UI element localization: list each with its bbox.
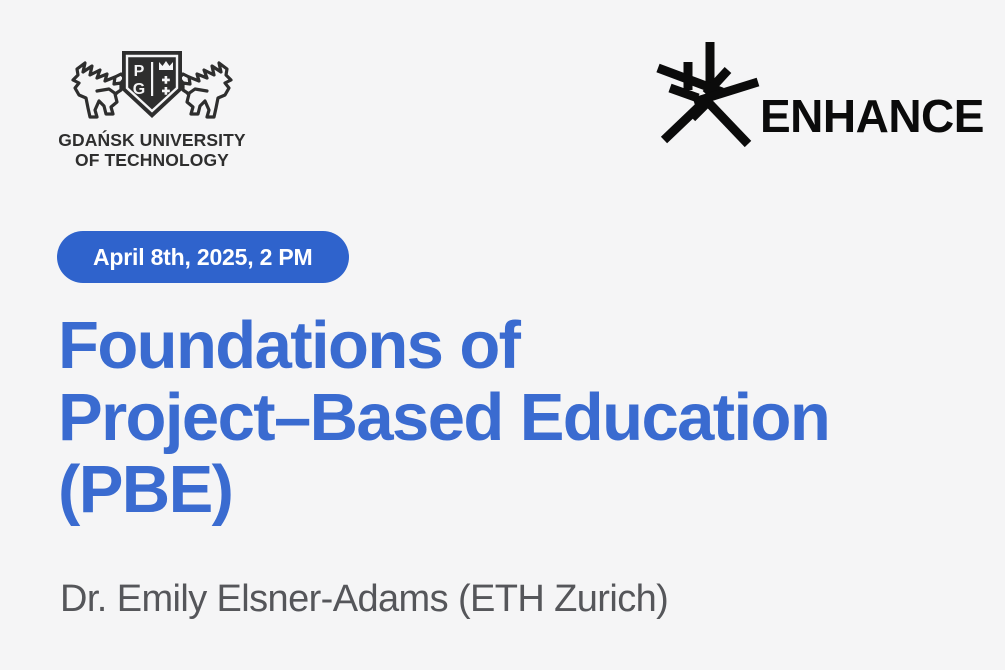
- event-date-badge: April 8th, 2025, 2 PM: [57, 231, 349, 283]
- enhance-star-icon: [650, 40, 766, 148]
- event-title-line-3: (PBE): [58, 454, 978, 526]
- event-title-line-1: Foundations of: [58, 310, 978, 382]
- event-announcement-poster: P G GDAŃSK UNIVERSITY OF TECHNOLOGY: [0, 0, 1005, 670]
- gut-wordmark-line-1: GDAŃSK UNIVERSITY: [58, 130, 245, 150]
- gut-wordmark-line-2: OF TECHNOLOGY: [58, 150, 245, 170]
- svg-text:G: G: [133, 81, 145, 98]
- event-speaker: Dr. Emily Elsner-Adams (ETH Zurich): [60, 578, 668, 621]
- enhance-wordmark: ENHANCE: [760, 93, 984, 139]
- logo-row: P G GDAŃSK UNIVERSITY OF TECHNOLOGY: [0, 0, 1005, 200]
- svg-text:P: P: [134, 63, 145, 80]
- event-title-line-2: Project–Based Education: [58, 382, 978, 454]
- enhance-logo: ENHANCE: [650, 40, 984, 148]
- gdansk-university-wordmark: GDAŃSK UNIVERSITY OF TECHNOLOGY: [58, 130, 245, 170]
- gdansk-university-logo: P G GDAŃSK UNIVERSITY OF TECHNOLOGY: [52, 38, 252, 170]
- gdansk-university-crest-icon: P G: [59, 38, 245, 124]
- event-title: Foundations of Project–Based Education (…: [58, 310, 978, 526]
